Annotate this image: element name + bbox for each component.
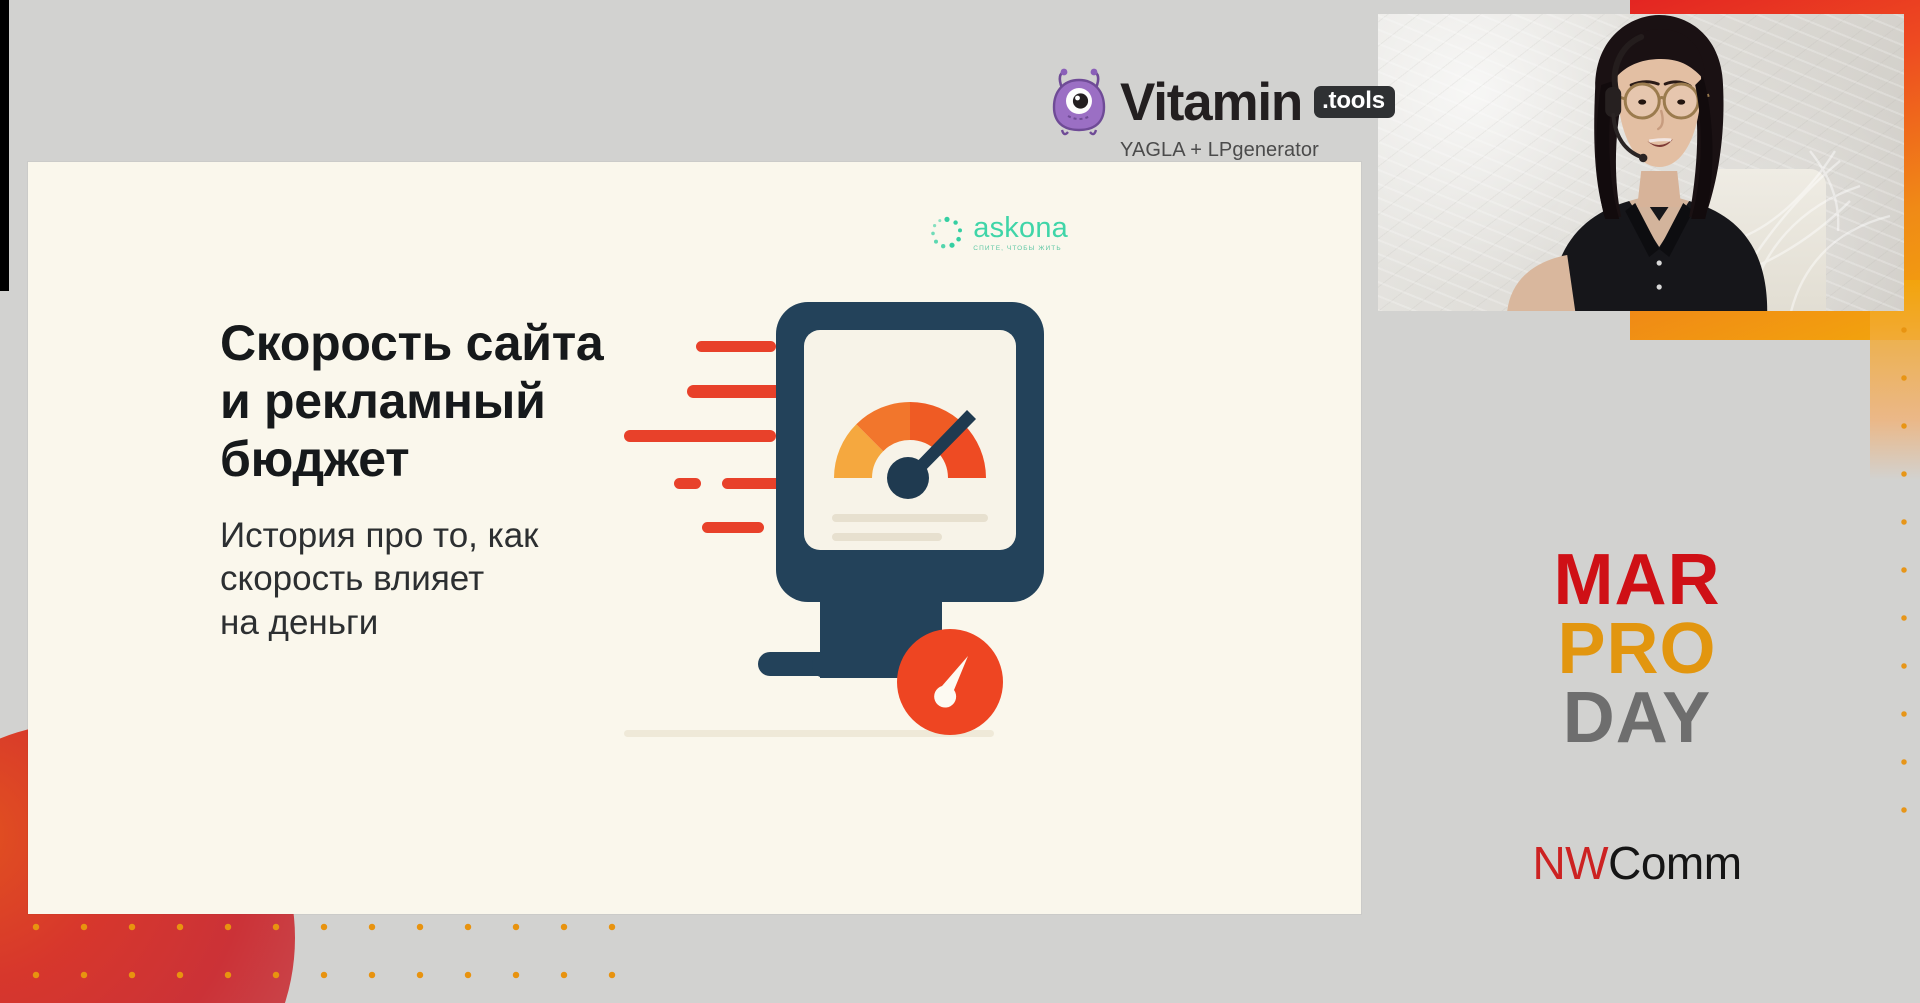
vitamin-subtitle: YAGLA + LPgenerator [1120,139,1319,162]
speed-lines-icon [624,341,797,533]
stream-frame: askona спите, чтобы жить Скорость сайта … [0,0,1920,1003]
askona-name: askona [973,214,1068,243]
presentation-slide: askona спите, чтобы жить Скорость сайта … [28,162,1361,914]
site-speed-gauge-monitor-illustration [624,282,1054,802]
askona-tagline: спите, чтобы жить [973,246,1068,253]
nwcomm-suffix: Comm [1608,837,1741,889]
marproday-line-pro: PRO [1504,615,1770,684]
askona-wordmark: askona спите, чтобы жить [973,214,1068,253]
dot-grid-right-decoration [1874,300,1914,820]
vitamin-logo-row: Vitamin .tools [1048,68,1395,136]
vitamin-tools-logo: Vitamin .tools YAGLA + LPgenerator [1048,68,1395,162]
video-speaker-person [1489,14,1819,311]
purple-monster-icon [1048,68,1110,136]
askona-dots-circle-icon [930,216,964,250]
nwcomm-logo: NWComm [1504,836,1770,890]
askona-logo: askona спите, чтобы жить [930,214,1068,253]
speed-badge-icon [897,629,1003,735]
marproday-logo: MAR PRO DAY [1504,546,1770,753]
marproday-line-day: DAY [1504,684,1770,753]
tools-badge: .tools [1314,86,1395,118]
vitamin-wordmark: Vitamin [1120,76,1302,129]
marproday-line-mar: MAR [1504,546,1770,615]
black-bar-left [0,0,9,291]
slide-headline: Скорость сайта и рекламный бюджет [220,314,650,488]
speaker-video-feed[interactable] [1378,14,1904,311]
nwcomm-prefix: NW [1532,837,1608,889]
slide-subhead: История про то, как скорость влияет на д… [220,514,650,644]
slide-text-block: Скорость сайта и рекламный бюджет Истори… [220,314,650,644]
